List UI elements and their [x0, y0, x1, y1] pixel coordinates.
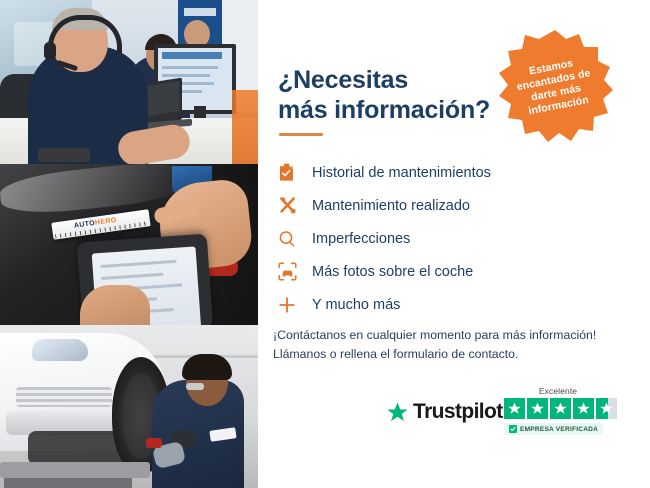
monitor-screen-header [162, 52, 222, 59]
star-filled [573, 398, 594, 419]
badge-content: Estamos encantados de darte más informac… [485, 18, 625, 157]
trustpilot-stars [504, 398, 624, 419]
plus-icon [278, 296, 312, 314]
list-item: Historial de mantenimientos [278, 156, 558, 189]
star-filled [527, 398, 548, 419]
list-item: Y mucho más [278, 288, 558, 321]
headset-earpiece [44, 42, 56, 60]
trustpilot-star-icon [386, 401, 409, 424]
list-item-label: Mantenimiento realizado [312, 198, 470, 214]
list-item: Mantenimiento realizado [278, 189, 558, 222]
list-item-label: Más fotos sobre el coche [312, 264, 473, 280]
star-filled [550, 398, 571, 419]
tablet-screen-row [101, 260, 177, 268]
monitor-screen-row [162, 74, 210, 77]
trustpilot-logo[interactable]: Trustpilot [386, 400, 503, 424]
trustpilot-rating-widget[interactable]: Trustpilot Excelente [386, 386, 626, 448]
content-panel: ¿Necesitas más información? Estamos enca… [258, 0, 650, 488]
contact-paragraph-line-2: Llámanos o rellena el formulario de cont… [273, 345, 633, 364]
vehicle-lift-platform [0, 462, 150, 478]
tools-icon [278, 196, 312, 215]
trustpilot-wordmark: Trustpilot [413, 400, 503, 424]
info-promo-card: AUTOHERO [0, 0, 650, 488]
photo-mechanic-inspecting-car-wheel-on-lift [0, 325, 258, 488]
desk-tablet [38, 148, 90, 162]
star-partial [596, 398, 617, 419]
headline-line-1: ¿Necesitas [278, 66, 408, 94]
list-item: Más fotos sobre el coche [278, 255, 558, 288]
badge-text: Estamos encantados de darte más informac… [503, 53, 607, 122]
inspector-hand-holding-tablet [80, 285, 150, 325]
list-item-label: Imperfecciones [312, 231, 410, 247]
feature-list: Historial de mantenimientos Mantenimient… [278, 156, 558, 321]
tablet-screen-row [101, 273, 163, 280]
photo-inspection-ruler-on-car-with-tablet: AUTOHERO [0, 164, 258, 325]
check-icon [509, 425, 517, 433]
contact-paragraph-line-1: ¡Contáctanos en cualquier momento para m… [273, 326, 633, 345]
title-divider [279, 133, 323, 136]
list-item-label: Historial de mantenimientos [312, 165, 491, 181]
headline-line-2: más información? [278, 96, 490, 124]
car-scan-icon [278, 262, 312, 281]
trustpilot-score-block: Excelente [504, 386, 624, 437]
car-grille [16, 387, 112, 407]
clipboard-check-icon [278, 163, 312, 182]
inspection-tool [146, 438, 162, 448]
photo-column: AUTOHERO [0, 0, 258, 488]
trustpilot-rating-label: Excelente [504, 386, 612, 396]
star-filled [504, 398, 525, 419]
car-headlight [32, 339, 88, 361]
promo-badge: Estamos encantados de darte más informac… [495, 28, 615, 146]
orange-shelf-accent [232, 90, 258, 164]
monitor-screen-row [162, 66, 218, 69]
mechanic-safety-glasses [186, 383, 204, 390]
list-item: Imperfecciones [278, 222, 558, 255]
magnifier-icon [278, 230, 312, 248]
verified-business-badge: EMPRESA VERIFICADA [504, 423, 603, 435]
list-item-label: Y mucho más [312, 297, 400, 313]
verified-business-label: EMPRESA VERIFICADA [520, 426, 598, 433]
contact-paragraph: ¡Contáctanos en cualquier momento para m… [273, 326, 633, 364]
mechanic-hair [182, 354, 232, 380]
vehicle-lift-base [4, 478, 132, 488]
headset-icon [485, 37, 508, 58]
photo-call-center-agents-with-headsets [0, 0, 258, 164]
